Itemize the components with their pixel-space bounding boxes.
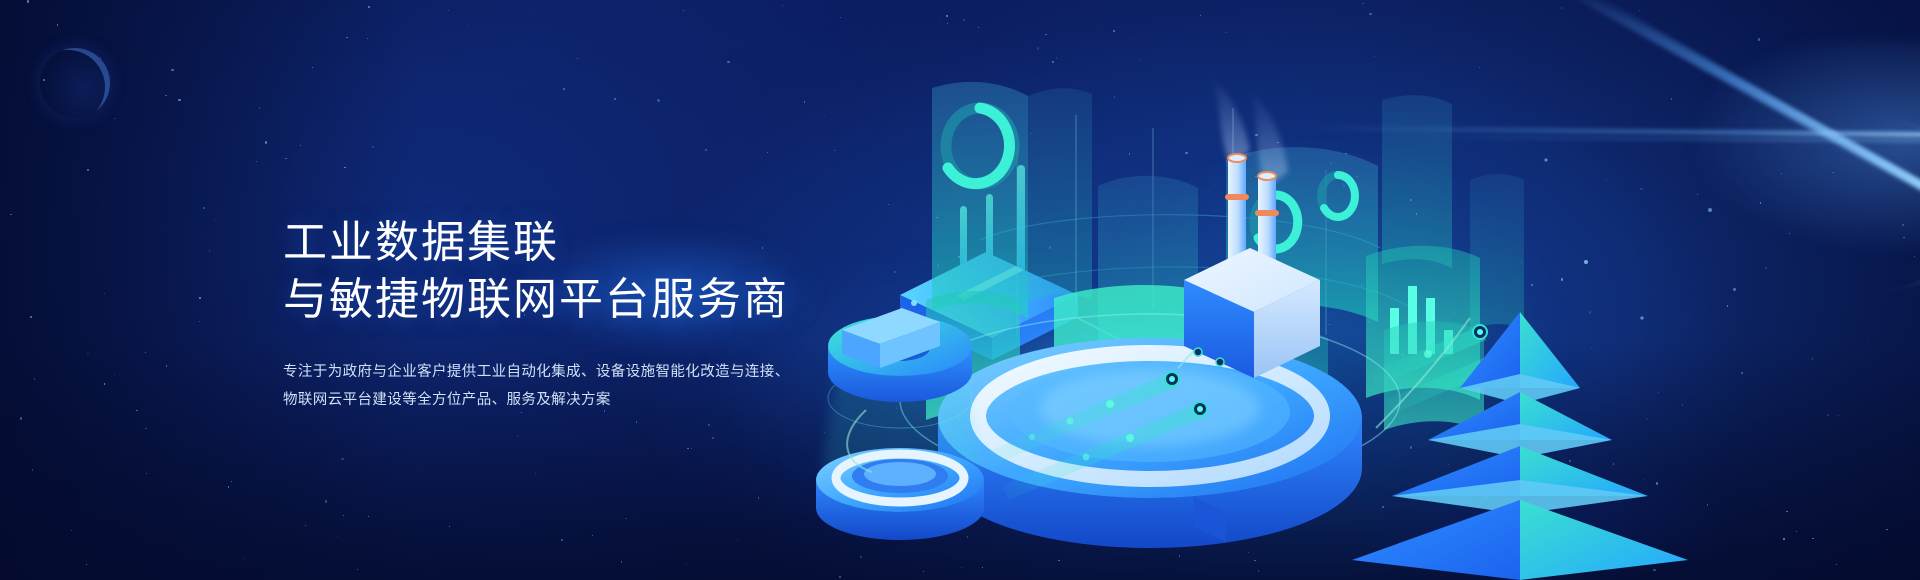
star bbox=[259, 107, 260, 108]
title-line-2: 与敏捷物联网平台服务商 bbox=[283, 272, 923, 328]
star bbox=[343, 515, 344, 516]
chimney-ring-1 bbox=[1225, 194, 1249, 200]
star bbox=[449, 526, 450, 527]
star bbox=[577, 58, 578, 59]
star bbox=[199, 321, 200, 322]
star bbox=[86, 564, 87, 565]
star bbox=[209, 250, 210, 251]
star bbox=[101, 205, 102, 206]
star bbox=[341, 458, 343, 460]
star bbox=[71, 530, 72, 531]
star bbox=[166, 365, 167, 366]
pedestal-center bbox=[864, 462, 936, 486]
isometric-illustration bbox=[780, 0, 1920, 580]
star bbox=[657, 99, 659, 101]
star bbox=[30, 316, 32, 318]
star bbox=[372, 146, 374, 148]
sparkles bbox=[1544, 158, 1712, 319]
star bbox=[100, 57, 101, 58]
star bbox=[34, 378, 35, 379]
star bbox=[712, 437, 714, 439]
star bbox=[691, 448, 692, 449]
star bbox=[614, 98, 616, 100]
star bbox=[114, 118, 115, 119]
star bbox=[357, 569, 358, 570]
page-subtitle: 专注于为政府与企业客户提供工业自动化集成、设备设施智能化改造与连接、 物联网云平… bbox=[283, 358, 923, 415]
star bbox=[203, 207, 205, 209]
star bbox=[625, 518, 626, 519]
star bbox=[214, 220, 215, 221]
star bbox=[231, 481, 232, 482]
ring-pedestal bbox=[816, 448, 984, 540]
star bbox=[448, 10, 449, 11]
star bbox=[367, 38, 368, 39]
star bbox=[737, 539, 738, 540]
subtitle-line-1: 专注于为政府与企业客户提供工业自动化集成、设备设施智能化改造与连接、 bbox=[283, 358, 923, 386]
star bbox=[178, 99, 180, 101]
star bbox=[256, 161, 257, 162]
panel-right-back bbox=[1382, 95, 1452, 268]
star bbox=[312, 67, 313, 68]
star bbox=[165, 95, 166, 96]
star bbox=[368, 516, 369, 517]
star bbox=[228, 486, 229, 487]
star bbox=[145, 352, 146, 353]
star bbox=[10, 214, 11, 215]
star bbox=[517, 435, 518, 436]
star bbox=[145, 428, 146, 429]
star bbox=[243, 558, 244, 559]
smoke-plume-1 bbox=[1210, 74, 1250, 168]
star bbox=[767, 152, 768, 153]
star bbox=[468, 25, 469, 26]
panel-gauge-large bbox=[932, 82, 1028, 318]
star bbox=[32, 469, 33, 470]
hero-copy: 工业数据集联 与敏捷物联网平台服务商 专注于为政府与企业客户提供工业自动化集成、… bbox=[283, 186, 923, 429]
star bbox=[686, 564, 687, 565]
star bbox=[199, 297, 200, 298]
star bbox=[104, 293, 105, 294]
star bbox=[705, 149, 706, 150]
star bbox=[285, 158, 286, 159]
chimney-ring-2 bbox=[1255, 210, 1279, 216]
star bbox=[265, 141, 267, 143]
star bbox=[20, 417, 22, 419]
star bbox=[344, 167, 345, 168]
star bbox=[300, 145, 301, 146]
cube-led-2 bbox=[1216, 358, 1224, 366]
star bbox=[114, 374, 115, 375]
star bbox=[171, 69, 173, 71]
star bbox=[87, 169, 89, 171]
star bbox=[305, 525, 306, 526]
star bbox=[146, 473, 147, 474]
star bbox=[561, 539, 563, 541]
star bbox=[346, 37, 347, 38]
star bbox=[337, 536, 338, 537]
page-title: 工业数据集联 与敏捷物联网平台服务商 bbox=[283, 215, 923, 328]
star bbox=[104, 383, 105, 384]
panel-left-back bbox=[1028, 88, 1092, 302]
star bbox=[758, 497, 759, 498]
cube-led-1 bbox=[1194, 348, 1202, 356]
star bbox=[592, 535, 593, 536]
subtitle-line-2: 物联网云平台建设等全方位产品、服务及解决方案 bbox=[283, 386, 923, 414]
star bbox=[57, 24, 58, 25]
star bbox=[535, 473, 536, 474]
hero-banner: 工业数据集联 与敏捷物联网平台服务商 专注于为政府与企业客户提供工业自动化集成、… bbox=[0, 0, 1920, 580]
star bbox=[43, 79, 45, 81]
star bbox=[325, 500, 327, 502]
title-line-1: 工业数据集联 bbox=[283, 215, 923, 271]
star bbox=[87, 353, 88, 354]
star bbox=[687, 448, 688, 449]
star bbox=[136, 410, 137, 411]
star bbox=[530, 14, 531, 15]
star bbox=[27, 0, 29, 2]
star bbox=[683, 10, 684, 11]
star bbox=[727, 61, 729, 63]
star bbox=[563, 88, 564, 89]
star bbox=[368, 6, 369, 7]
star bbox=[621, 561, 622, 562]
